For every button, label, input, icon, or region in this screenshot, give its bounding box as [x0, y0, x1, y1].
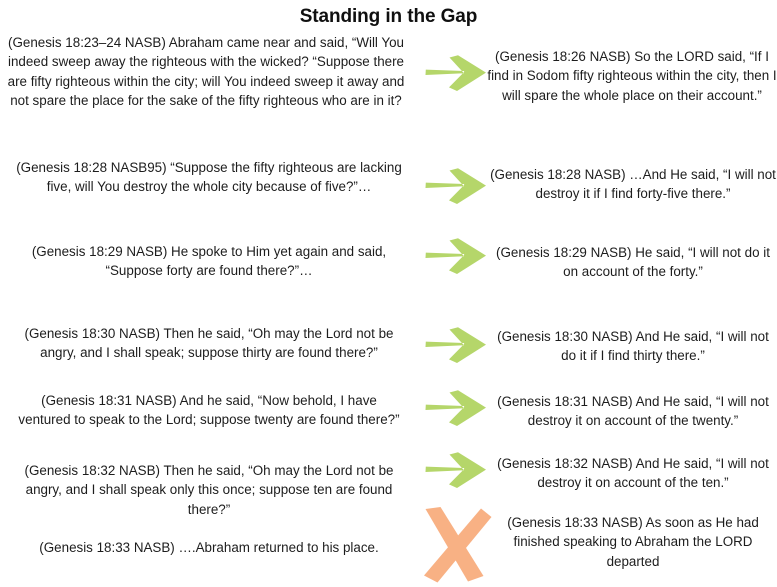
petition-text: (Genesis 18:30 NASB) Then he said, “Oh m…	[14, 324, 404, 363]
petition-text: (Genesis 18:29 NASB) He spoke to Him yet…	[14, 242, 404, 281]
response-text: (Genesis 18:31 NASB) And He said, “I wil…	[489, 392, 777, 431]
petition-text: (Genesis 18:31 NASB) And he said, “Now b…	[14, 391, 404, 430]
arrow-right-icon	[424, 50, 490, 94]
arrow-right-icon	[424, 322, 490, 366]
petition-text: (Genesis 18:23–24 NASB) Abraham came nea…	[2, 33, 410, 111]
response-text: (Genesis 18:33 NASB) As soon as He had f…	[489, 513, 777, 571]
petition-text: (Genesis 18:28 NASB95) “Suppose the fift…	[14, 158, 404, 197]
response-text: (Genesis 18:28 NASB) …And He said, “I wi…	[489, 165, 777, 204]
page-title: Standing in the Gap	[0, 5, 777, 29]
arrow-right-icon	[424, 163, 490, 207]
arrow-right-icon	[424, 385, 490, 429]
slide-canvas: Standing in the Gap (Genesis 18:23–24 NA…	[0, 0, 777, 587]
response-text: (Genesis 18:29 NASB) He said, “I will no…	[489, 243, 777, 282]
cross-mark-icon	[415, 505, 493, 585]
arrow-right-icon	[424, 447, 490, 491]
petition-text: (Genesis 18:33 NASB) ….Abraham returned …	[14, 538, 404, 557]
response-text: (Genesis 18:30 NASB) And He said, “I wil…	[489, 327, 777, 366]
petition-text: (Genesis 18:32 NASB) Then he said, “Oh m…	[14, 461, 404, 519]
response-text: (Genesis 18:26 NASB) So the LORD said, “…	[487, 47, 777, 105]
arrow-right-icon	[424, 233, 490, 277]
response-text: (Genesis 18:32 NASB) And He said, “I wil…	[489, 454, 777, 493]
